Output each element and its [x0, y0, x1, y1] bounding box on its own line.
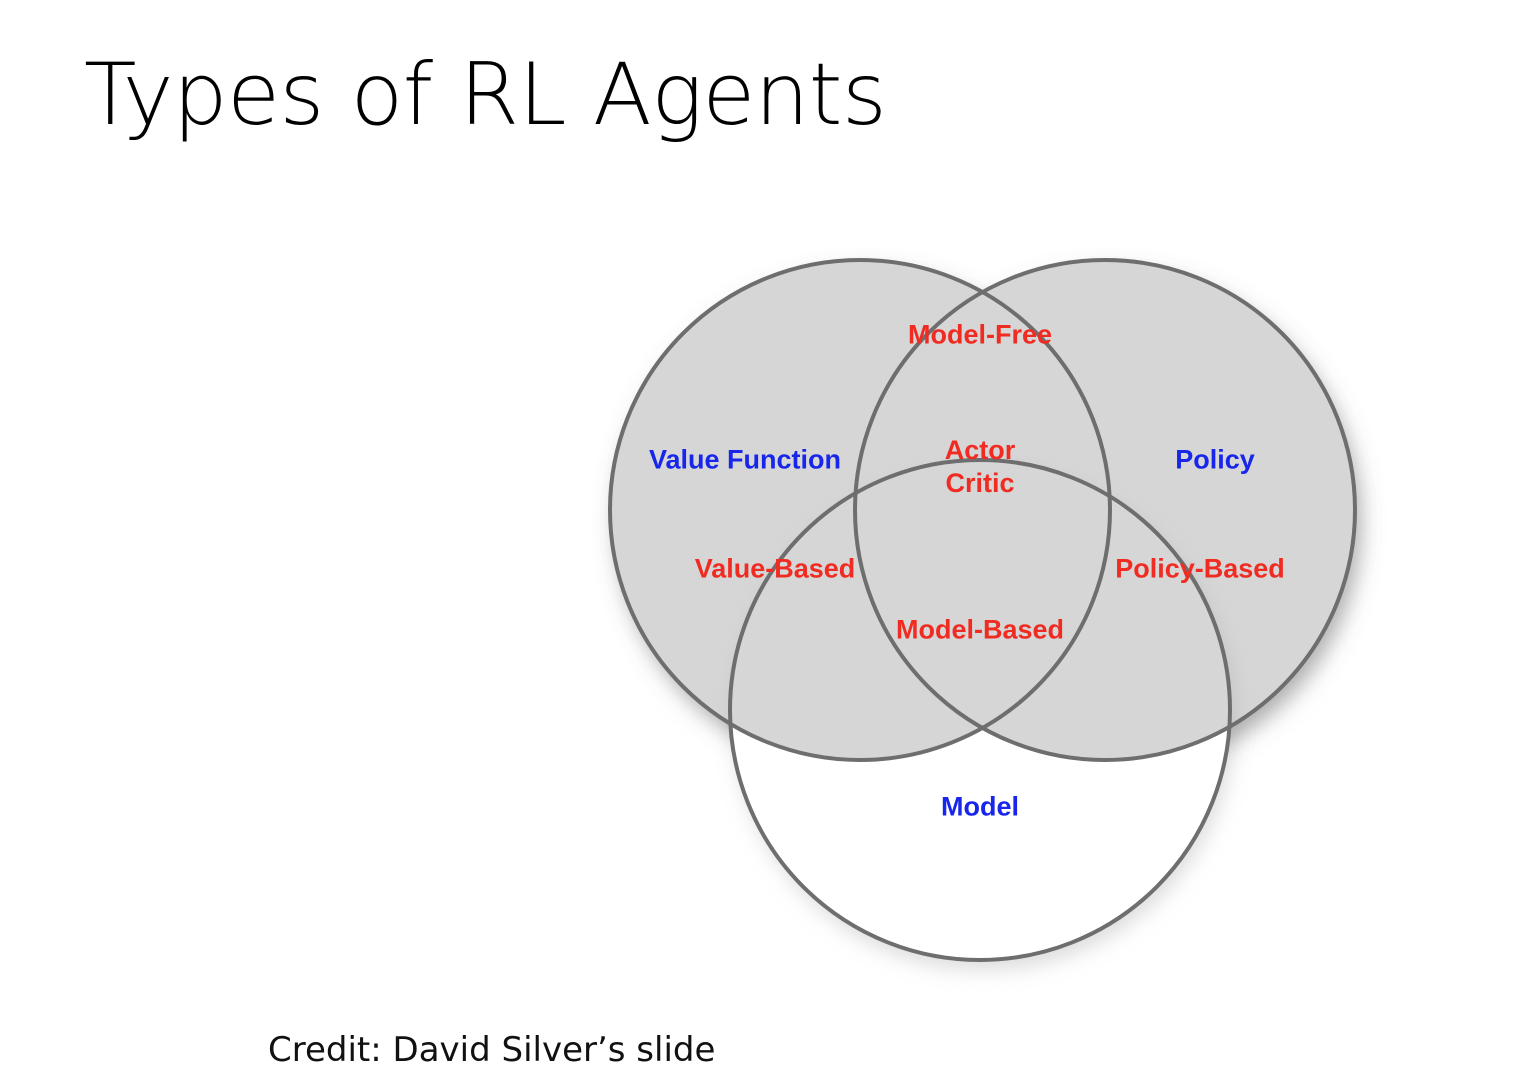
venn-label-model-free-text: Model-Free — [908, 320, 1052, 350]
venn-label-model: Model — [941, 791, 1019, 824]
venn-label-model-based-text: Model-Based — [896, 615, 1064, 645]
venn-label-value-function: Value Function — [649, 444, 841, 477]
venn-label-model-text: Model — [941, 792, 1019, 822]
venn-label-policy-based: Policy-Based — [1115, 553, 1285, 586]
venn-label-policy-based-text: Policy-Based — [1115, 554, 1285, 584]
venn-label-critic-text: Critic — [945, 467, 1016, 500]
venn-label-actor-text: Actor — [945, 435, 1016, 465]
venn-label-policy: Policy — [1175, 444, 1255, 477]
credit-text: Credit: David Silver’s slide — [268, 1030, 715, 1070]
venn-label-model-based: Model-Based — [896, 614, 1064, 647]
venn-label-layer: Value Function Policy Model Model-Free A… — [560, 210, 1440, 1000]
venn-label-policy-text: Policy — [1175, 445, 1255, 475]
venn-label-actor-critic: Actor Critic — [945, 434, 1016, 500]
venn-label-model-free: Model-Free — [908, 319, 1052, 352]
page-title: Types of RL Agents — [84, 52, 886, 138]
venn-diagram: Value Function Policy Model Model-Free A… — [560, 210, 1440, 1000]
venn-label-value-based: Value-Based — [695, 553, 856, 586]
venn-label-value-function-text: Value Function — [649, 445, 841, 475]
venn-label-value-based-text: Value-Based — [695, 554, 856, 584]
